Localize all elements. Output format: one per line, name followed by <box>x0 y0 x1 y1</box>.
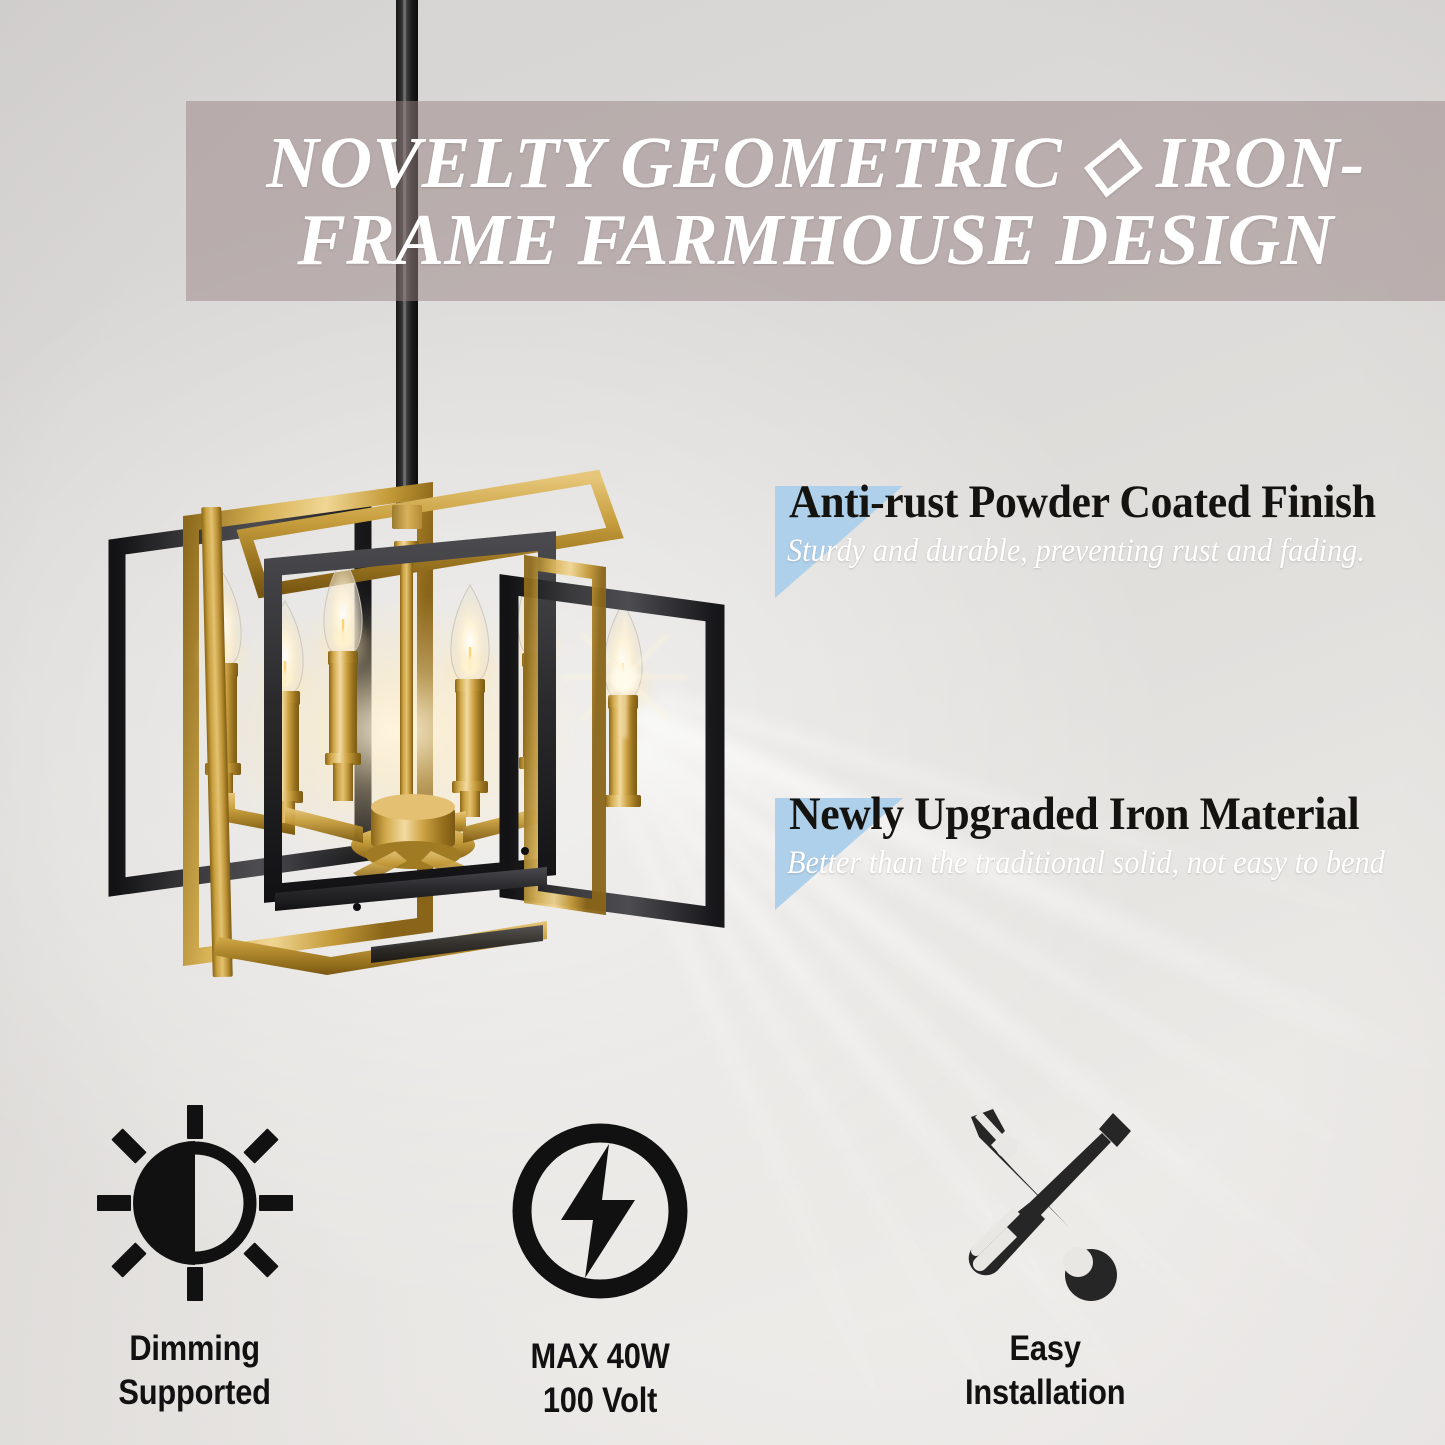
feature-heading: Anti-rust Powder Coated Finish <box>789 478 1399 527</box>
badge-wattage: MAX 40W 100 Volt <box>435 1108 765 1423</box>
infographic-canvas: NOVELTY GEOMETRIC ◇ IRON-FRAME FARMHOUSE… <box>0 0 1445 1445</box>
canopy-nut <box>392 505 422 529</box>
wrench-screwdriver-cross-icon <box>945 1100 1145 1305</box>
feature-subtitle: Sturdy and durable, preventing rust and … <box>787 533 1392 570</box>
brightness-half-sun-icon <box>95 1100 295 1305</box>
lightning-bolt-circle-icon <box>505 1108 695 1313</box>
lens-flare <box>565 617 685 737</box>
down-rod-highlight <box>403 0 406 526</box>
frame-bottom-bars <box>213 867 547 975</box>
feature-heading: Newly Upgraded Iron Material <box>789 790 1399 839</box>
chandelier-photo <box>95 455 755 1030</box>
badge-label: Easy Installation <box>965 1327 1125 1415</box>
feature-subtitle: Better than the traditional solid, not e… <box>787 845 1392 882</box>
badge-label: Dimming Supported <box>119 1327 271 1415</box>
badge-installation: Easy Installation <box>880 1100 1210 1415</box>
down-rod <box>396 0 418 526</box>
badge-row: Dimming Supported MAX 40W 100 Volt <box>0 1100 1445 1445</box>
feature-block-iron-material: Newly Upgraded Iron Material Better than… <box>775 790 1445 882</box>
badge-label: MAX 40W 100 Volt <box>530 1335 669 1423</box>
badge-dimming: Dimming Supported <box>30 1100 360 1415</box>
feature-block-anti-rust: Anti-rust Powder Coated Finish Sturdy an… <box>775 478 1445 570</box>
